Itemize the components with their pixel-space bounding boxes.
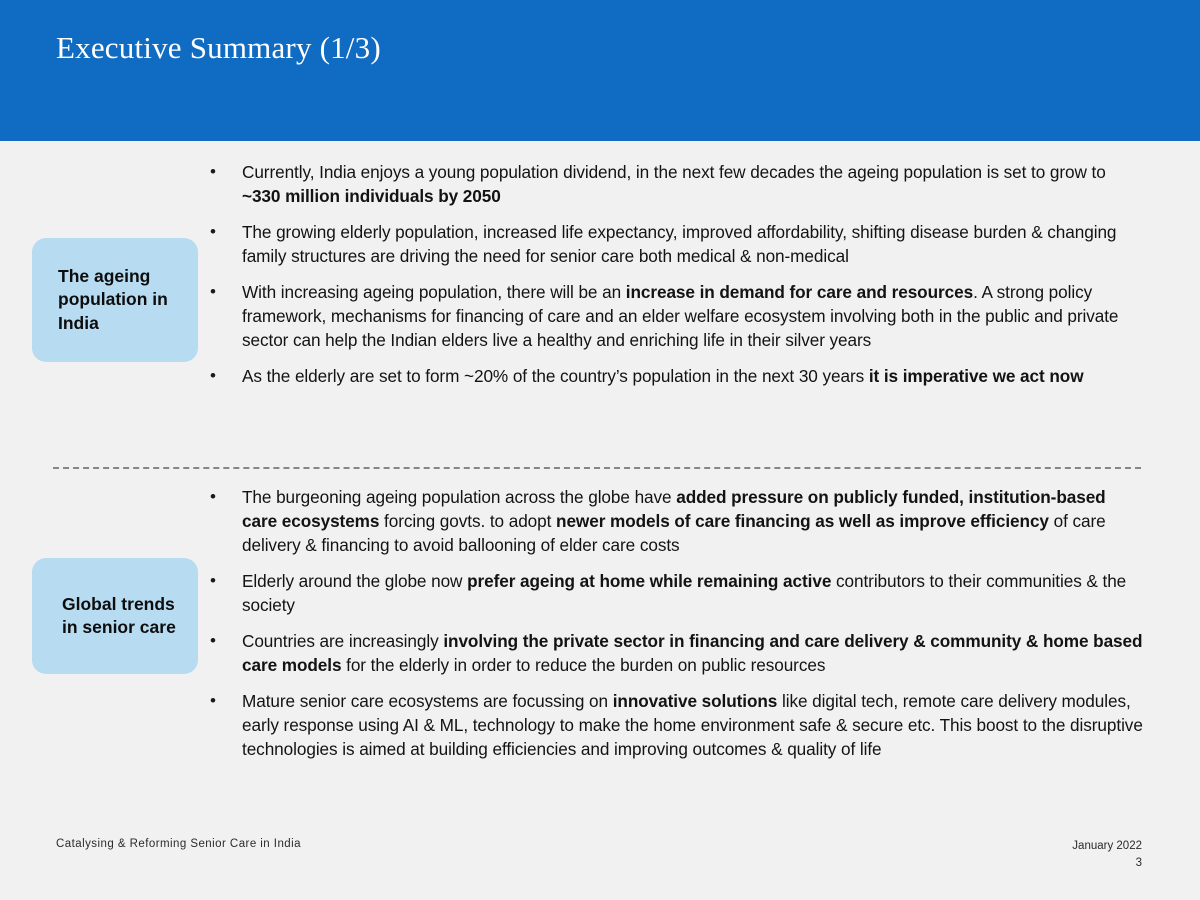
bullet-text: With increasing ageing population, there…: [242, 280, 1145, 352]
bullet-point-icon: •: [205, 629, 242, 653]
bullet-point-icon: •: [205, 160, 242, 184]
bullet-list: •Currently, India enjoys a young populat…: [205, 160, 1145, 388]
bullet-item: •With increasing ageing population, ther…: [205, 280, 1145, 352]
footer-document-title: Catalysing & Reforming Senior Care in In…: [56, 838, 301, 850]
section-divider: [53, 467, 1141, 469]
bullet-text: The growing elderly population, increase…: [242, 220, 1145, 268]
section-label-box: Global trends in senior care: [32, 558, 198, 674]
bullet-list: •The burgeoning ageing population across…: [205, 485, 1145, 761]
bullet-item: •Currently, India enjoys a young populat…: [205, 160, 1145, 208]
bullet-point-icon: •: [205, 220, 242, 244]
bullet-item: •Elderly around the globe now prefer age…: [205, 569, 1145, 617]
bullet-item: •The burgeoning ageing population across…: [205, 485, 1145, 557]
section-label-text: Global trends in senior care: [62, 593, 184, 639]
bullet-point-icon: •: [205, 689, 242, 713]
bullet-point-icon: •: [205, 364, 242, 388]
slide: Executive Summary (1/3) The ageing popul…: [0, 0, 1200, 900]
bullet-point-icon: •: [205, 485, 242, 509]
bullet-text: Elderly around the globe now prefer agei…: [242, 569, 1145, 617]
slide-header-bar: Executive Summary (1/3): [0, 0, 1200, 141]
bullet-item: •Mature senior care ecosystems are focus…: [205, 689, 1145, 761]
section-label-text: The ageing population in India: [58, 265, 184, 334]
bullet-text: Currently, India enjoys a young populati…: [242, 160, 1145, 208]
bullet-text: Countries are increasingly involving the…: [242, 629, 1145, 677]
footer-meta: January 2022 3: [1072, 838, 1142, 871]
section-label-box: The ageing population in India: [32, 238, 198, 362]
footer-page-number: 3: [1072, 855, 1142, 872]
page-title: Executive Summary (1/3): [56, 30, 381, 66]
bullet-text: As the elderly are set to form ~20% of t…: [242, 364, 1145, 388]
bullet-text: Mature senior care ecosystems are focuss…: [242, 689, 1145, 761]
bullet-point-icon: •: [205, 569, 242, 593]
bullet-item: •As the elderly are set to form ~20% of …: [205, 364, 1145, 388]
bullet-item: •The growing elderly population, increas…: [205, 220, 1145, 268]
bullet-point-icon: •: [205, 280, 242, 304]
footer-date: January 2022: [1072, 838, 1142, 855]
bullet-item: •Countries are increasingly involving th…: [205, 629, 1145, 677]
bullet-text: The burgeoning ageing population across …: [242, 485, 1145, 557]
